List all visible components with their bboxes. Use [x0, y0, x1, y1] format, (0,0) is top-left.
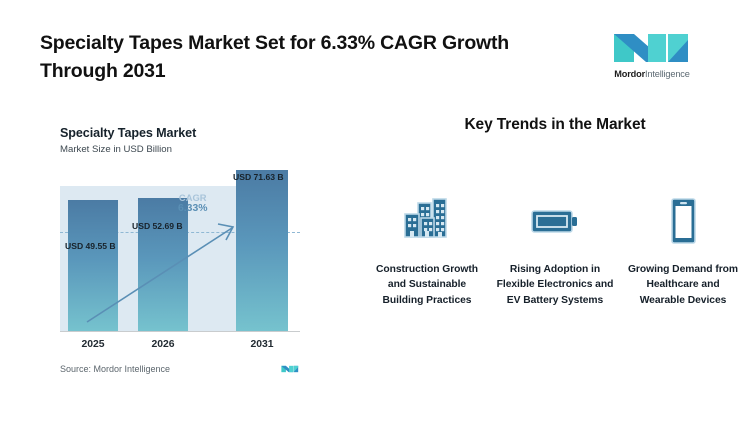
- cagr-value-text: 6.33%: [178, 203, 207, 215]
- x-axis-label-2031: 2031: [235, 339, 289, 350]
- trend-label-construction: Construction Growth and Sustainable Buil…: [368, 262, 486, 308]
- trend-card-construction[interactable]: Construction Growth and Sustainable Buil…: [368, 196, 486, 308]
- bar-chart-plot: USD 49.55 B USD 52.69 B USD 71.63 B 2025…: [60, 186, 300, 346]
- x-axis-label-2025: 2025: [66, 339, 120, 350]
- brand-wordmark-bold: Mordor: [614, 69, 645, 79]
- trend-card-electronics[interactable]: Rising Adoption in Flexible Electronics …: [496, 196, 614, 308]
- cagr-label-text: CAGR: [178, 192, 207, 203]
- battery-icon: [529, 196, 581, 246]
- buildings-icon: [401, 196, 453, 246]
- bar-value-2025: USD 49.55 B: [65, 241, 116, 251]
- brand-wordmark-light: Intelligence: [645, 69, 690, 79]
- x-axis-label-2026: 2026: [136, 339, 190, 350]
- chart-section: Specialty Tapes Market Market Size in US…: [0, 108, 360, 408]
- trends-heading: Key Trends in the Market: [360, 116, 750, 134]
- brand-wordmark: MordorIntelligence: [608, 69, 696, 79]
- header: Specialty Tapes Market Set for 6.33% CAG…: [0, 0, 750, 100]
- mordor-m-logo-icon: [608, 30, 696, 66]
- source-text: Source: Mordor Intelligence: [60, 364, 170, 374]
- trend-label-healthcare: Growing Demand from Healthcare and Weara…: [624, 262, 742, 308]
- source-row: Source: Mordor Intelligence: [60, 364, 300, 374]
- brand-logo[interactable]: MordorIntelligence: [608, 30, 696, 79]
- smartphone-icon: [666, 196, 700, 246]
- bar-2026[interactable]: [138, 198, 188, 332]
- bar-2031[interactable]: [236, 170, 288, 332]
- trend-cards: Construction Growth and Sustainable Buil…: [368, 196, 742, 308]
- bar-value-2031: USD 71.63 B: [233, 172, 284, 182]
- trends-section: Key Trends in the Market: [360, 108, 750, 408]
- page-title: Specialty Tapes Market Set for 6.33% CAG…: [40, 30, 560, 85]
- trend-card-healthcare[interactable]: Growing Demand from Healthcare and Weara…: [624, 196, 742, 308]
- chart-subtitle: Market Size in USD Billion: [60, 144, 172, 155]
- trend-label-electronics: Rising Adoption in Flexible Electronics …: [496, 262, 614, 308]
- chart-title: Specialty Tapes Market: [60, 126, 196, 140]
- mordor-m-logo-icon: [280, 364, 300, 374]
- bar-2025[interactable]: [68, 200, 118, 332]
- cagr-annotation: CAGR 6.33%: [178, 192, 207, 216]
- bar-value-2026: USD 52.69 B: [132, 221, 183, 231]
- x-axis-line: [60, 331, 300, 332]
